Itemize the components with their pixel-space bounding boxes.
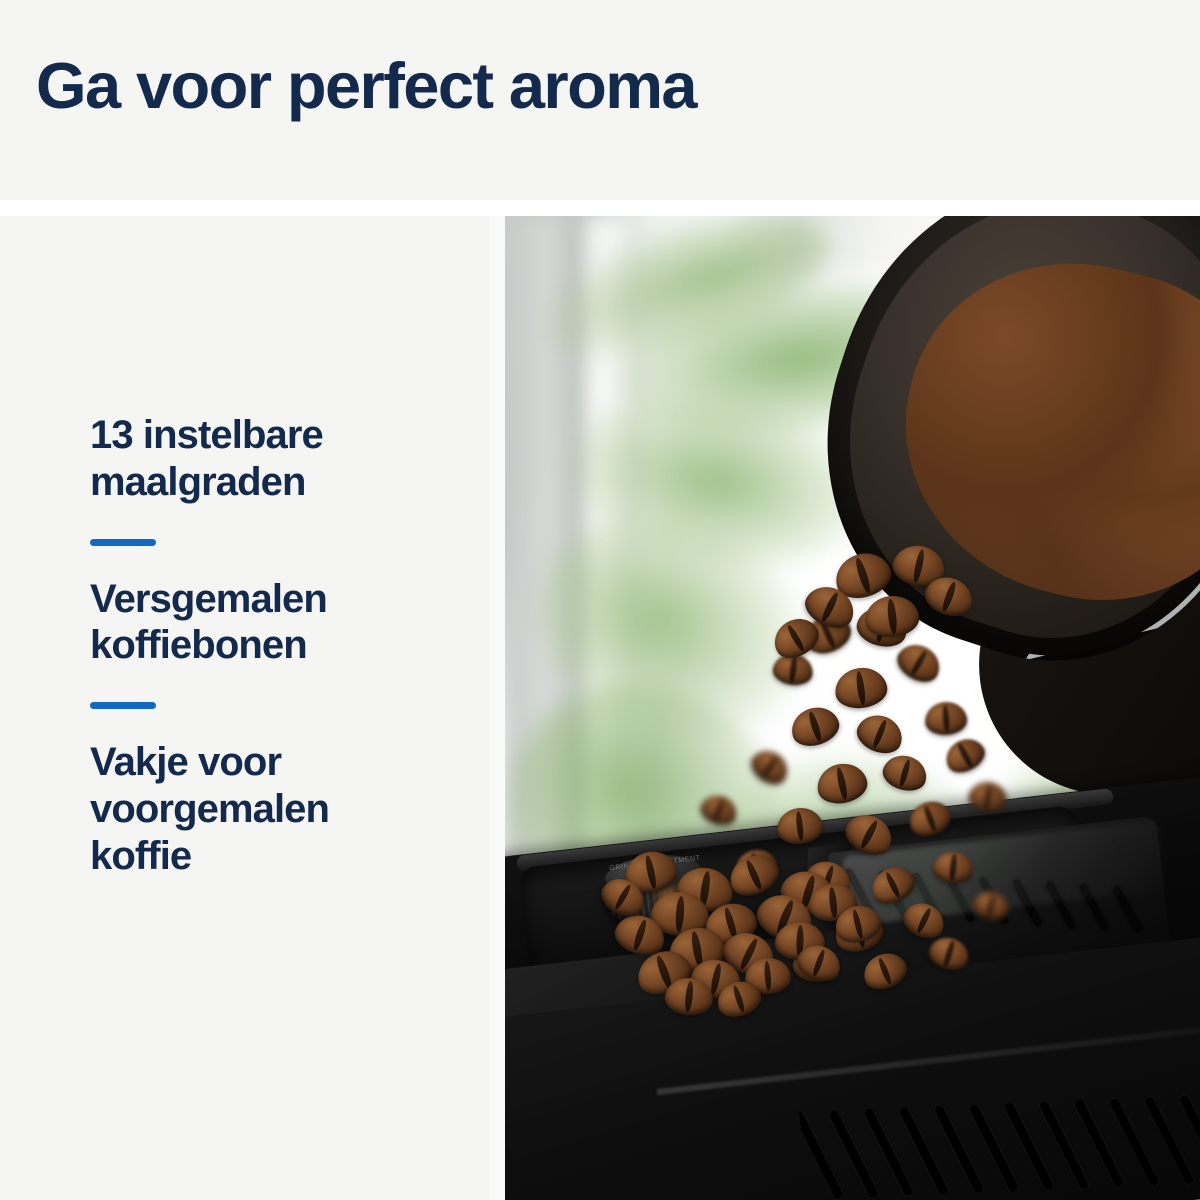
feature-divider-1 — [90, 539, 156, 546]
feature-item-2: Versgemalen koffiebonen — [90, 576, 420, 670]
promo-poster: Ga voor perfect aroma 13 instelbare maal… — [0, 0, 1200, 1200]
feature-panel: 13 instelbare maalgraden Versgemalen kof… — [0, 216, 490, 1200]
feature-list: 13 instelbare maalgraden Versgemalen kof… — [90, 412, 420, 880]
product-photo: GRINDER ADJUSTMENT — [505, 216, 1200, 1200]
feature-item-3: Vakje voor voorgemalen koffie — [90, 739, 420, 879]
feature-divider-2 — [90, 702, 156, 709]
header-body-divider — [0, 200, 1200, 216]
feature-item-1: 13 instelbare maalgraden — [90, 412, 420, 506]
header-band: Ga voor perfect aroma — [0, 0, 1200, 200]
page-title: Ga voor perfect aroma — [36, 52, 696, 120]
panel-photo-gap — [490, 216, 505, 1200]
